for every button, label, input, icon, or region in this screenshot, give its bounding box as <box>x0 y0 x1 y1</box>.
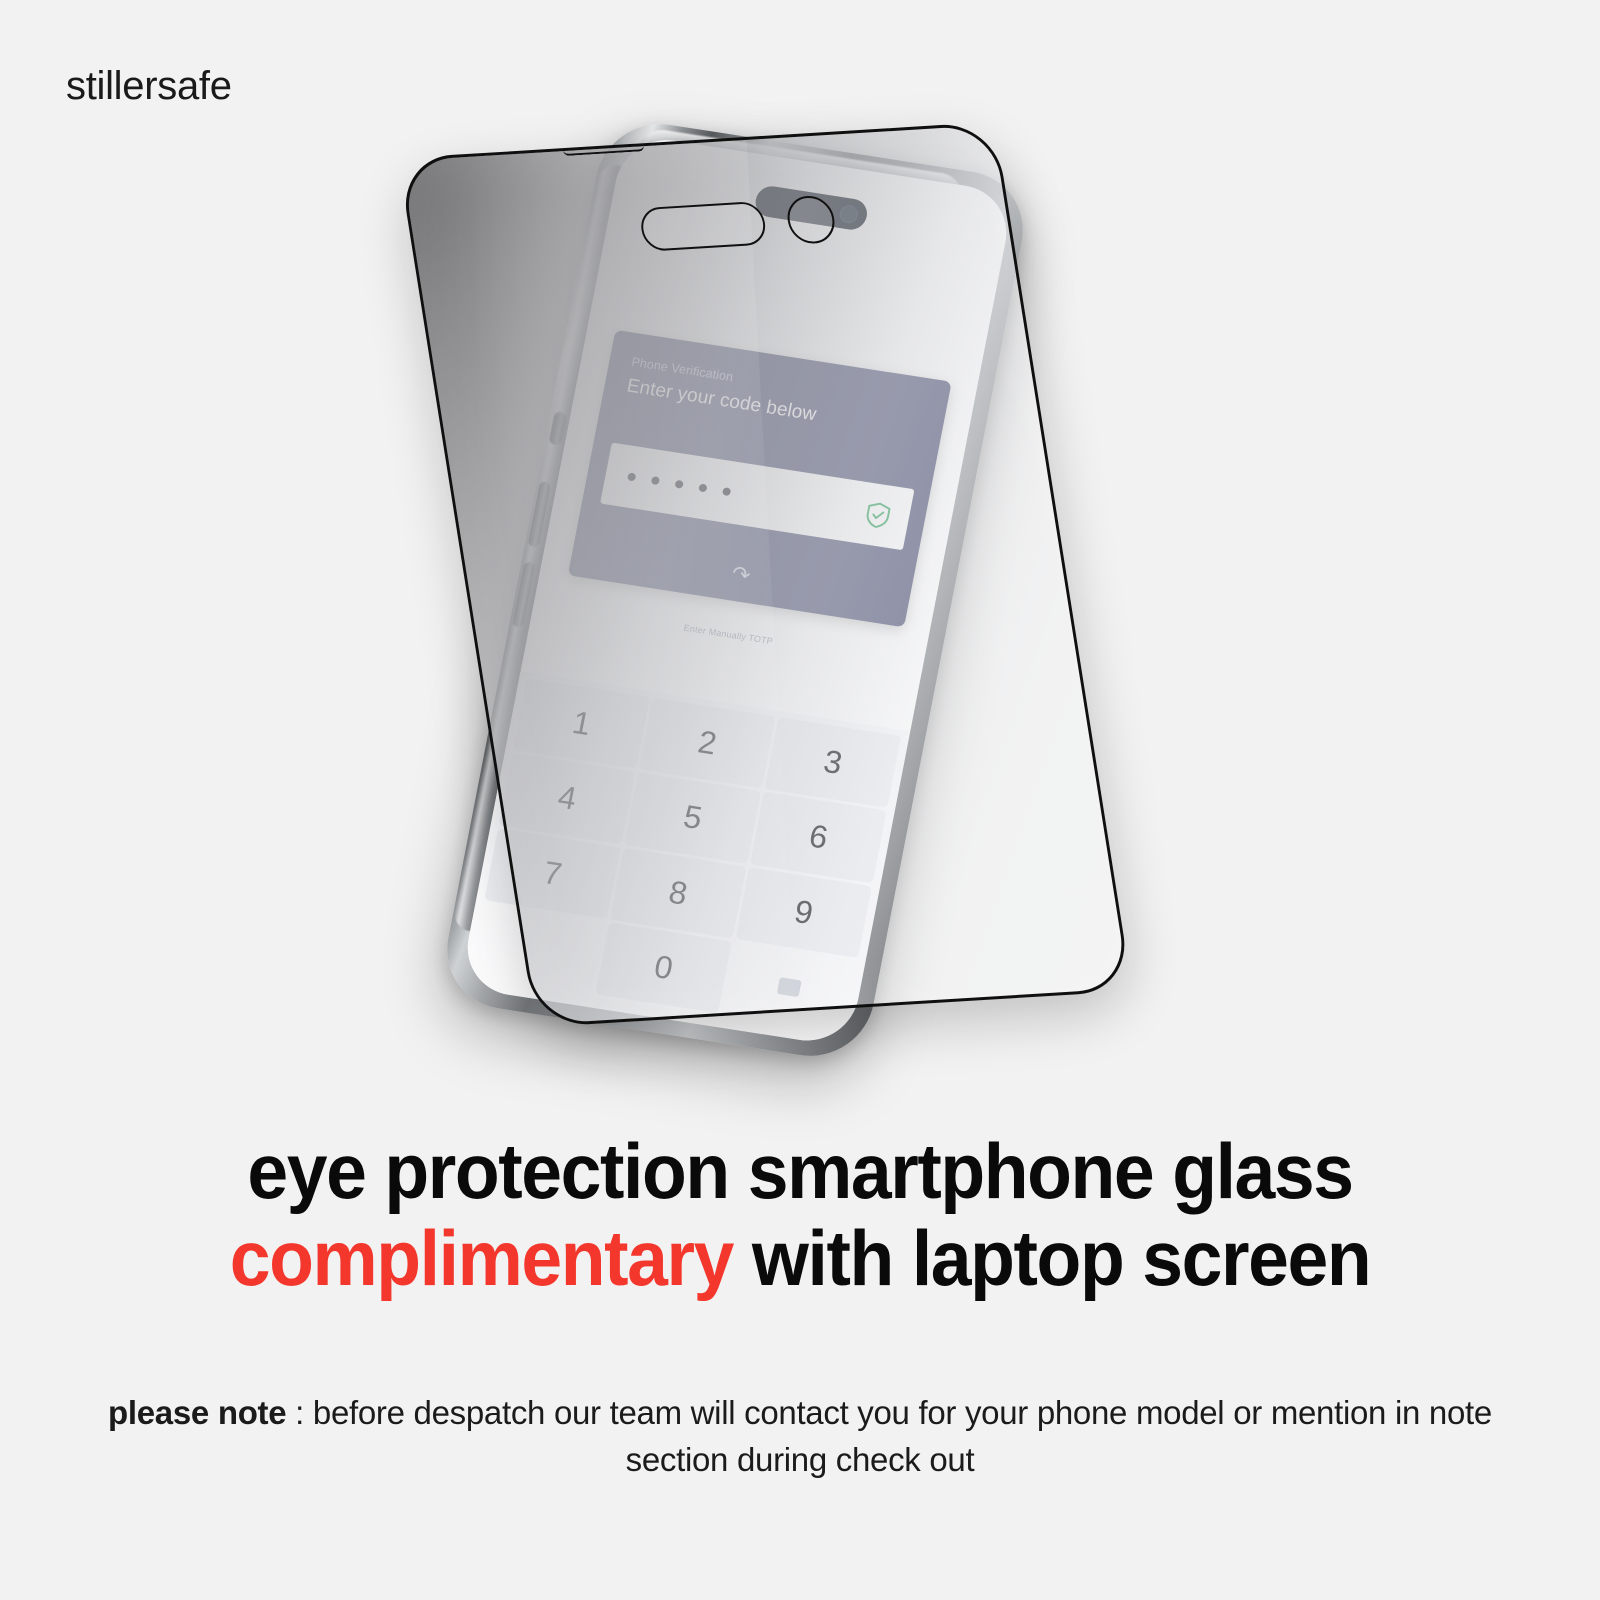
please-note-text: please note : before despatch our team w… <box>70 1390 1530 1484</box>
dynamic-island-cutout <box>638 201 768 252</box>
headline-line-2: complimentary with laptop screen <box>48 1215 1552 1302</box>
note-separator: : <box>286 1394 313 1431</box>
hero-product-image: Phone Verification Enter your code below <box>0 120 1600 1080</box>
headline: eye protection smartphone glass complime… <box>48 1128 1552 1303</box>
headline-line-2-rest: with laptop screen <box>733 1214 1370 1302</box>
headline-line-1: eye protection smartphone glass <box>48 1128 1552 1215</box>
note-label: please note <box>108 1394 286 1431</box>
brand-logo: stillersafe <box>66 66 232 106</box>
promo-graphic: stillersafe Phone Verifica <box>0 0 1600 1600</box>
camera-cutout <box>784 195 838 245</box>
earpiece-cutout <box>563 143 645 156</box>
note-body: before despatch our team will contact yo… <box>313 1394 1492 1478</box>
headline-accent-word: complimentary <box>230 1214 733 1302</box>
